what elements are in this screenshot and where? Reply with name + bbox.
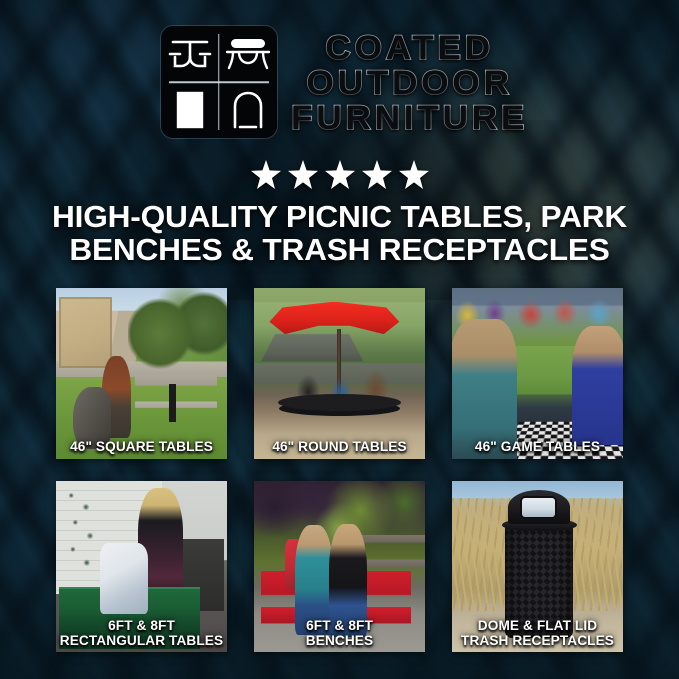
photo-element-red-umbrella	[269, 302, 399, 334]
product-tile-benches[interactable]: 6FT & 8FT BENCHES	[254, 481, 425, 652]
picnic-table-icon	[161, 26, 219, 82]
photo-element-house-roof	[261, 334, 364, 361]
product-tile-round-tables[interactable]: 46" ROUND TABLES	[254, 288, 425, 459]
brand-logo: COATED OUTDOOR FURNITURE	[0, 26, 679, 138]
caption-line: TRASH RECEPTACLES	[453, 633, 622, 648]
photo-element-woman	[452, 319, 517, 459]
bike-rack-icon	[219, 82, 277, 138]
photo-element-picnic-table	[135, 374, 217, 425]
caption-line: 46" SQUARE TABLES	[57, 439, 226, 454]
product-grid: 46" SQUARE TABLES 46" ROUND TABLES	[56, 288, 624, 652]
trash-receptacle-icon	[161, 82, 219, 138]
star-rating	[0, 160, 679, 189]
brand-line-coated: COATED	[291, 31, 528, 65]
product-tile-trash-receptacles[interactable]: DOME & FLAT LID TRASH RECEPTACLES	[452, 481, 623, 652]
caption-line: DOME & FLAT LID	[453, 618, 622, 633]
logo-icon-grid	[161, 26, 277, 138]
photo-element-boy	[572, 326, 623, 446]
product-tile-game-tables[interactable]: 46" GAME TABLES	[452, 288, 623, 459]
caption-line: 6FT & 8FT	[57, 618, 226, 633]
product-tile-square-tables[interactable]: 46" SQUARE TABLES	[56, 288, 227, 459]
caption-line: BENCHES	[255, 633, 424, 648]
product-caption-rectangular-tables: 6FT & 8FT RECTANGULAR TABLES	[57, 618, 226, 648]
headline: HIGH-QUALITY PICNIC TABLES, PARK BENCHES…	[24, 200, 655, 266]
product-photo-round-tables	[254, 288, 425, 459]
poster: COATED OUTDOOR FURNITURE HIGH-QUALITY PI…	[0, 0, 679, 679]
star-icon	[399, 160, 429, 189]
photo-element-bag	[100, 543, 148, 615]
caption-line: 46" GAME TABLES	[453, 439, 622, 454]
photo-element-dome-opening	[522, 498, 554, 517]
product-tile-rectangular-tables[interactable]: 6FT & 8FT RECTANGULAR TABLES	[56, 481, 227, 652]
product-photo-game-tables	[452, 288, 623, 459]
bench-table-icon	[219, 26, 277, 82]
product-caption-round-tables: 46" ROUND TABLES	[255, 439, 424, 454]
brand-wordmark: COATED OUTDOOR FURNITURE	[291, 29, 519, 135]
caption-line: 6FT & 8FT	[255, 618, 424, 633]
headline-line-1: HIGH-QUALITY PICNIC TABLES, PARK	[24, 200, 655, 233]
brand-line-outdoor: OUTDOOR	[291, 66, 528, 100]
product-caption-trash-receptacles: DOME & FLAT LID TRASH RECEPTACLES	[453, 618, 622, 648]
star-icon	[325, 160, 355, 189]
brand-line-furniture: FURNITURE	[291, 101, 528, 135]
star-icon	[362, 160, 392, 189]
product-caption-benches: 6FT & 8FT BENCHES	[255, 618, 424, 648]
headline-line-2: BENCHES & TRASH RECEPTACLES	[24, 233, 655, 266]
star-icon	[288, 160, 318, 189]
photo-element-round-table	[278, 394, 401, 411]
caption-line: 46" ROUND TABLES	[255, 439, 424, 454]
star-icon	[251, 160, 281, 189]
product-photo-square-tables	[56, 288, 227, 459]
product-caption-game-tables: 46" GAME TABLES	[453, 439, 622, 454]
product-caption-square-tables: 46" SQUARE TABLES	[57, 439, 226, 454]
photo-element-vine	[63, 484, 104, 580]
caption-line: RECTANGULAR TABLES	[57, 633, 226, 648]
